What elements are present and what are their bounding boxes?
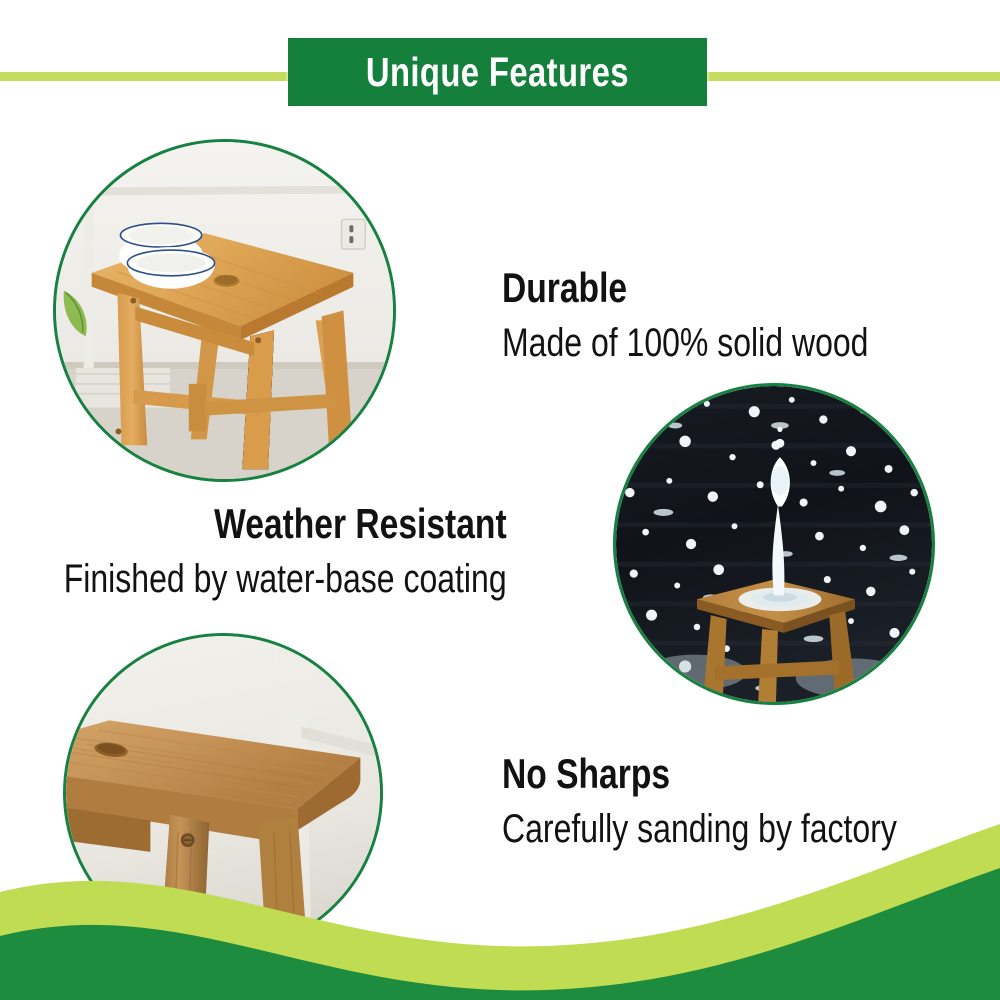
feature-weather-resistant-subtext: Finished by water-base coating — [64, 557, 507, 601]
feature-durable-heading: Durable — [502, 266, 868, 310]
feature-weather-resistant: Weather Resistant Finished by water-base… — [0, 502, 507, 601]
feature-durable: Durable Made of 100% solid wood — [502, 266, 960, 365]
photo-stool-with-bowls — [53, 139, 396, 482]
photo-water-splash-image — [616, 386, 932, 702]
header-rule-right — [705, 72, 1000, 81]
photo-stool-with-bowls-image — [56, 142, 393, 479]
feature-weather-resistant-heading: Weather Resistant — [64, 502, 507, 546]
header-rule-left — [0, 72, 292, 81]
page-title: Unique Features — [366, 52, 629, 93]
title-banner: Unique Features — [288, 38, 707, 106]
feature-durable-subtext: Made of 100% solid wood — [502, 321, 868, 365]
bottom-wave-decoration — [0, 820, 1000, 1000]
feature-no-sharps-heading: No Sharps — [502, 752, 897, 796]
photo-water-splash — [613, 383, 935, 705]
infographic-canvas: Unique Features — [0, 0, 1000, 1000]
